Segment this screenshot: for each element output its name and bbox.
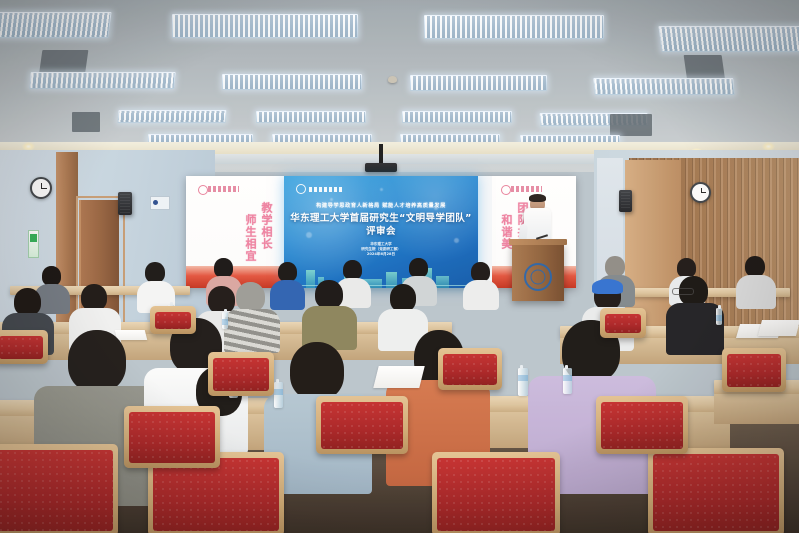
- chair[interactable]: [596, 396, 688, 454]
- ceiling-light: [424, 15, 604, 39]
- left-banner-line2: 师生相宜: [242, 214, 258, 262]
- chair-cushion: [601, 402, 683, 449]
- slide-subtitle: 华东理工大学 研究生院（党委研工部） 2024年6月28日: [284, 242, 478, 257]
- ceiling-light: [658, 26, 799, 52]
- slide-title: 华东理工大学首届研究生“文明导学团队” 评审会: [284, 212, 478, 238]
- paper-sheet: [115, 330, 147, 340]
- blue-cap-icon: [592, 279, 623, 294]
- desk-front-panel: [714, 394, 799, 424]
- wall-clock-right: [690, 182, 711, 203]
- attendee-head: [290, 342, 344, 400]
- attendee-head: [745, 256, 765, 277]
- ceiling-light: [410, 75, 547, 91]
- skyline-groundline: [284, 285, 478, 286]
- wall-speaker-right: [619, 190, 632, 212]
- attendee-head: [68, 330, 126, 392]
- ceiling-light: [172, 14, 358, 38]
- slide-title-line2: 评审会: [284, 225, 478, 238]
- attendee-head: [471, 262, 490, 282]
- ceiling-vent: [72, 112, 100, 132]
- ceiling-light: [29, 72, 175, 89]
- chair[interactable]: [150, 306, 196, 334]
- water-bottle: [563, 368, 572, 394]
- presenter-hair: [529, 194, 546, 202]
- chair-cushion: [155, 312, 191, 329]
- water-bottle: [274, 382, 283, 408]
- ecust-logo-pink-icon: [198, 185, 240, 194]
- conference-hall-photo: 教学相长 师生相宜 团队共 和谐美 构建导学思政育人新格局 赋能人才培养高质量发…: [0, 0, 799, 533]
- podium-top: [509, 239, 567, 245]
- chair[interactable]: [438, 348, 502, 390]
- chair-cushion: [653, 454, 779, 531]
- attendee-head: [315, 280, 343, 309]
- projector-body: [365, 163, 397, 172]
- chair-cushion: [727, 354, 781, 387]
- ceiling-light: [118, 110, 227, 123]
- ceiling-light: [0, 12, 112, 38]
- attendee-head: [390, 284, 416, 312]
- chair-cushion: [153, 458, 279, 531]
- slide-title-line1: 华东理工大学首届研究生“文明导学团队”: [284, 212, 478, 225]
- ceiling-vent: [610, 114, 652, 136]
- attendee-head: [81, 284, 107, 311]
- chair-cushion: [443, 354, 497, 385]
- skyline-building: [436, 276, 449, 288]
- wall-notice-plate: [150, 196, 170, 210]
- water-bottle: [222, 312, 228, 329]
- attendee-head: [145, 262, 165, 283]
- attendee-torso: [736, 275, 776, 309]
- chair[interactable]: [432, 452, 560, 533]
- glasses-icon: [672, 288, 694, 295]
- water-bottle: [716, 308, 722, 325]
- attendee-head: [278, 262, 297, 282]
- ceiling-light: [222, 74, 362, 90]
- ceiling: [0, 0, 799, 172]
- water-bottle: [518, 368, 528, 396]
- ecust-logo-white-icon: [296, 184, 343, 194]
- chair-cushion: [605, 314, 641, 333]
- podium: [512, 243, 564, 301]
- attendee-head: [14, 288, 41, 316]
- attendee-head: [343, 260, 362, 280]
- attendee-head: [42, 266, 61, 286]
- chair-cushion: [0, 450, 113, 531]
- chair-cushion: [321, 402, 403, 449]
- ecust-logo-pink-icon: [501, 185, 543, 194]
- smoke-detector: [388, 76, 397, 83]
- paper-sheet: [758, 320, 799, 336]
- attendee-head: [677, 258, 696, 278]
- chair-cushion: [0, 336, 43, 359]
- chair-cushion: [129, 412, 215, 463]
- chair[interactable]: [648, 448, 784, 533]
- chair[interactable]: [316, 396, 408, 454]
- emergency-exit-sign: [28, 230, 39, 258]
- ceiling-light: [402, 111, 512, 123]
- attendee-torso: [270, 280, 305, 310]
- attendee-head: [605, 256, 625, 277]
- university-seal-icon: [524, 263, 552, 291]
- chair[interactable]: [722, 348, 786, 392]
- slide-subtitle-line3: 2024年6月28日: [284, 252, 478, 257]
- chair[interactable]: [600, 308, 646, 338]
- ceiling-light: [593, 78, 734, 95]
- chair-cushion: [437, 458, 555, 531]
- chair[interactable]: [208, 352, 274, 396]
- attendee-torso: [224, 309, 280, 353]
- paper-sheet: [373, 366, 424, 388]
- attendee-torso: [463, 280, 499, 310]
- chair[interactable]: [124, 406, 220, 468]
- attendee-head: [409, 258, 428, 278]
- decor-bokeh: [330, 198, 333, 201]
- attendee-head: [214, 258, 233, 278]
- ceiling-light: [256, 111, 366, 123]
- decor-bokeh: [380, 188, 383, 191]
- chair-cushion: [213, 358, 269, 391]
- attendee-head: [236, 282, 265, 312]
- slide-skyline-graphic: [284, 262, 478, 288]
- chair[interactable]: [0, 330, 48, 364]
- left-banner-line1: 教学相长: [258, 202, 274, 250]
- projection-screen: 构建导学思政育人新格局 赋能人才培养高质量发展 华东理工大学首届研究生“文明导学…: [284, 176, 478, 288]
- slide-supertitle: 构建导学思政育人新格局 赋能人才培养高质量发展: [284, 202, 478, 209]
- wall-speaker-left: [118, 192, 132, 215]
- wall-clock-left: [30, 177, 52, 199]
- chair[interactable]: [0, 444, 118, 533]
